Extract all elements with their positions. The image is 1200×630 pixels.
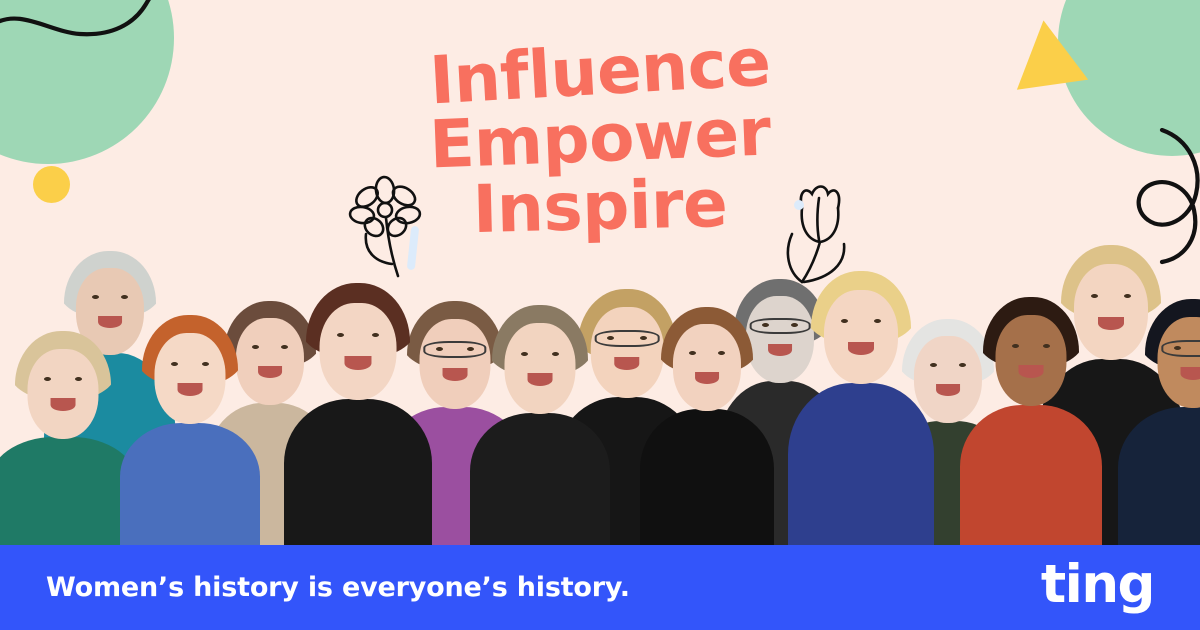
person-portrait bbox=[960, 297, 1102, 545]
person-face bbox=[673, 324, 741, 410]
person-eye-right bbox=[1043, 344, 1050, 348]
person-smile bbox=[1181, 367, 1200, 380]
ting-logo: ting bbox=[1041, 558, 1154, 617]
person-head bbox=[15, 331, 111, 443]
person-torso bbox=[788, 383, 934, 545]
person-face bbox=[27, 349, 98, 439]
person-portrait bbox=[1118, 299, 1200, 545]
person-portrait bbox=[640, 307, 774, 545]
person-smile bbox=[614, 357, 639, 370]
person-portrait bbox=[120, 315, 260, 545]
person-eye-right bbox=[202, 362, 209, 366]
bottom-banner-bar: Women’s history is everyone’s history. t… bbox=[0, 545, 1200, 630]
person-smile bbox=[258, 366, 282, 378]
person-face bbox=[824, 290, 898, 384]
person-head bbox=[492, 305, 588, 419]
person-smile bbox=[695, 372, 719, 384]
person-torso bbox=[284, 399, 432, 545]
person-face bbox=[154, 333, 225, 424]
person-torso bbox=[120, 423, 260, 545]
person-eye-left bbox=[44, 377, 51, 381]
person-eye-right bbox=[552, 352, 559, 356]
person-smile bbox=[178, 383, 203, 396]
person-portrait bbox=[284, 283, 432, 545]
person-smile bbox=[848, 342, 874, 355]
group-photo-collage bbox=[0, 245, 1200, 545]
person-smile bbox=[936, 384, 960, 396]
headline-block: Influence Empower Inspire bbox=[0, 40, 1200, 238]
person-head bbox=[983, 297, 1079, 411]
banner-root: Influence Empower Inspire Women’s histor… bbox=[0, 0, 1200, 630]
person-head bbox=[661, 307, 753, 415]
person-face bbox=[504, 323, 575, 414]
person-smile bbox=[528, 373, 553, 386]
person-head bbox=[142, 315, 238, 429]
person-eye-right bbox=[75, 377, 82, 381]
tagline-text: Women’s history is everyone’s history. bbox=[46, 572, 630, 603]
person-head bbox=[1145, 299, 1200, 413]
person-torso bbox=[470, 413, 610, 545]
person-torso bbox=[960, 405, 1102, 545]
person-torso bbox=[1118, 407, 1200, 545]
person-face bbox=[995, 315, 1066, 406]
person-eye-right bbox=[372, 333, 379, 337]
person-eye-left bbox=[1012, 344, 1019, 348]
person-torso bbox=[640, 409, 774, 545]
person-glasses bbox=[1161, 340, 1200, 357]
person-face bbox=[320, 303, 397, 401]
person-head bbox=[811, 271, 911, 389]
person-eye-left bbox=[521, 352, 528, 356]
person-head bbox=[306, 283, 410, 405]
person-portrait bbox=[788, 271, 934, 545]
person-portrait bbox=[0, 331, 138, 545]
person-smile bbox=[98, 316, 122, 328]
person-smile bbox=[1019, 365, 1044, 378]
person-torso bbox=[0, 437, 138, 545]
person-eye-left bbox=[171, 362, 178, 366]
person-portrait bbox=[470, 305, 610, 545]
